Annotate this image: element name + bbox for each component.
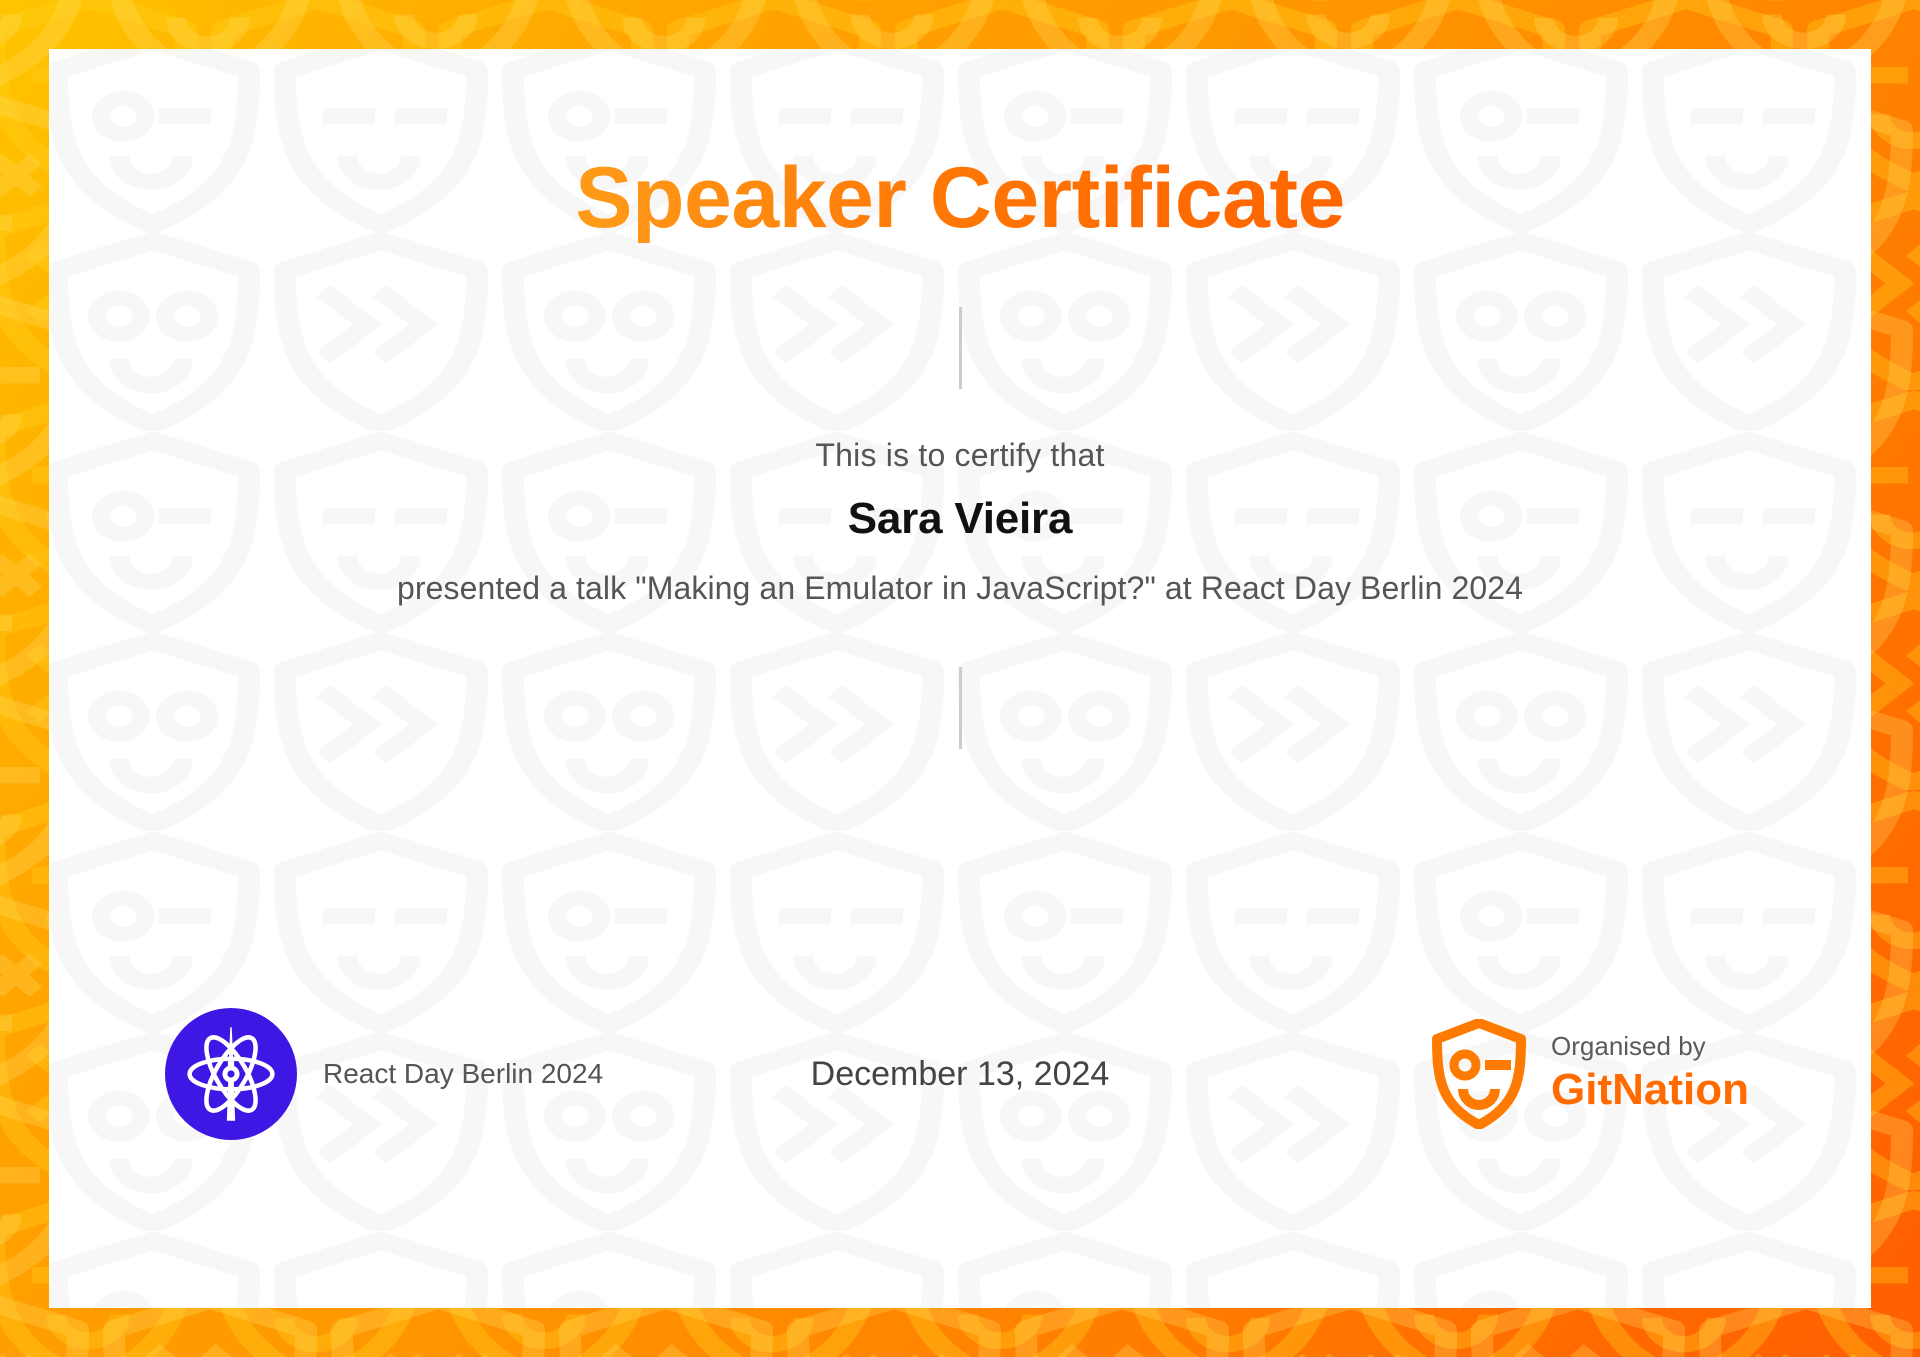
divider-top xyxy=(959,307,962,389)
certify-lead-text: This is to certify that xyxy=(49,437,1871,474)
certificate-footer: React Day Berlin 2024 December 13, 2024 … xyxy=(49,1008,1871,1140)
organiser-name: GitNation xyxy=(1551,1065,1749,1116)
gitnation-shield-mask-icon xyxy=(1431,1019,1527,1129)
recipient-name: Sara Vieira xyxy=(49,494,1871,544)
organiser-block: Organised by GitNation xyxy=(1431,1008,1749,1140)
certificate-card: Speaker Certificate This is to certify t… xyxy=(49,49,1871,1308)
organised-by-label: Organised by xyxy=(1551,1032,1749,1061)
talk-description: presented a talk "Making an Emulator in … xyxy=(49,570,1871,607)
divider-bottom xyxy=(959,667,962,749)
page-title: Speaker Certificate xyxy=(575,153,1345,243)
certificate-frame: Speaker Certificate This is to certify t… xyxy=(0,0,1920,1357)
organiser-text: Organised by GitNation xyxy=(1551,1032,1749,1115)
certify-block: This is to certify that Sara Vieira pres… xyxy=(49,437,1871,607)
